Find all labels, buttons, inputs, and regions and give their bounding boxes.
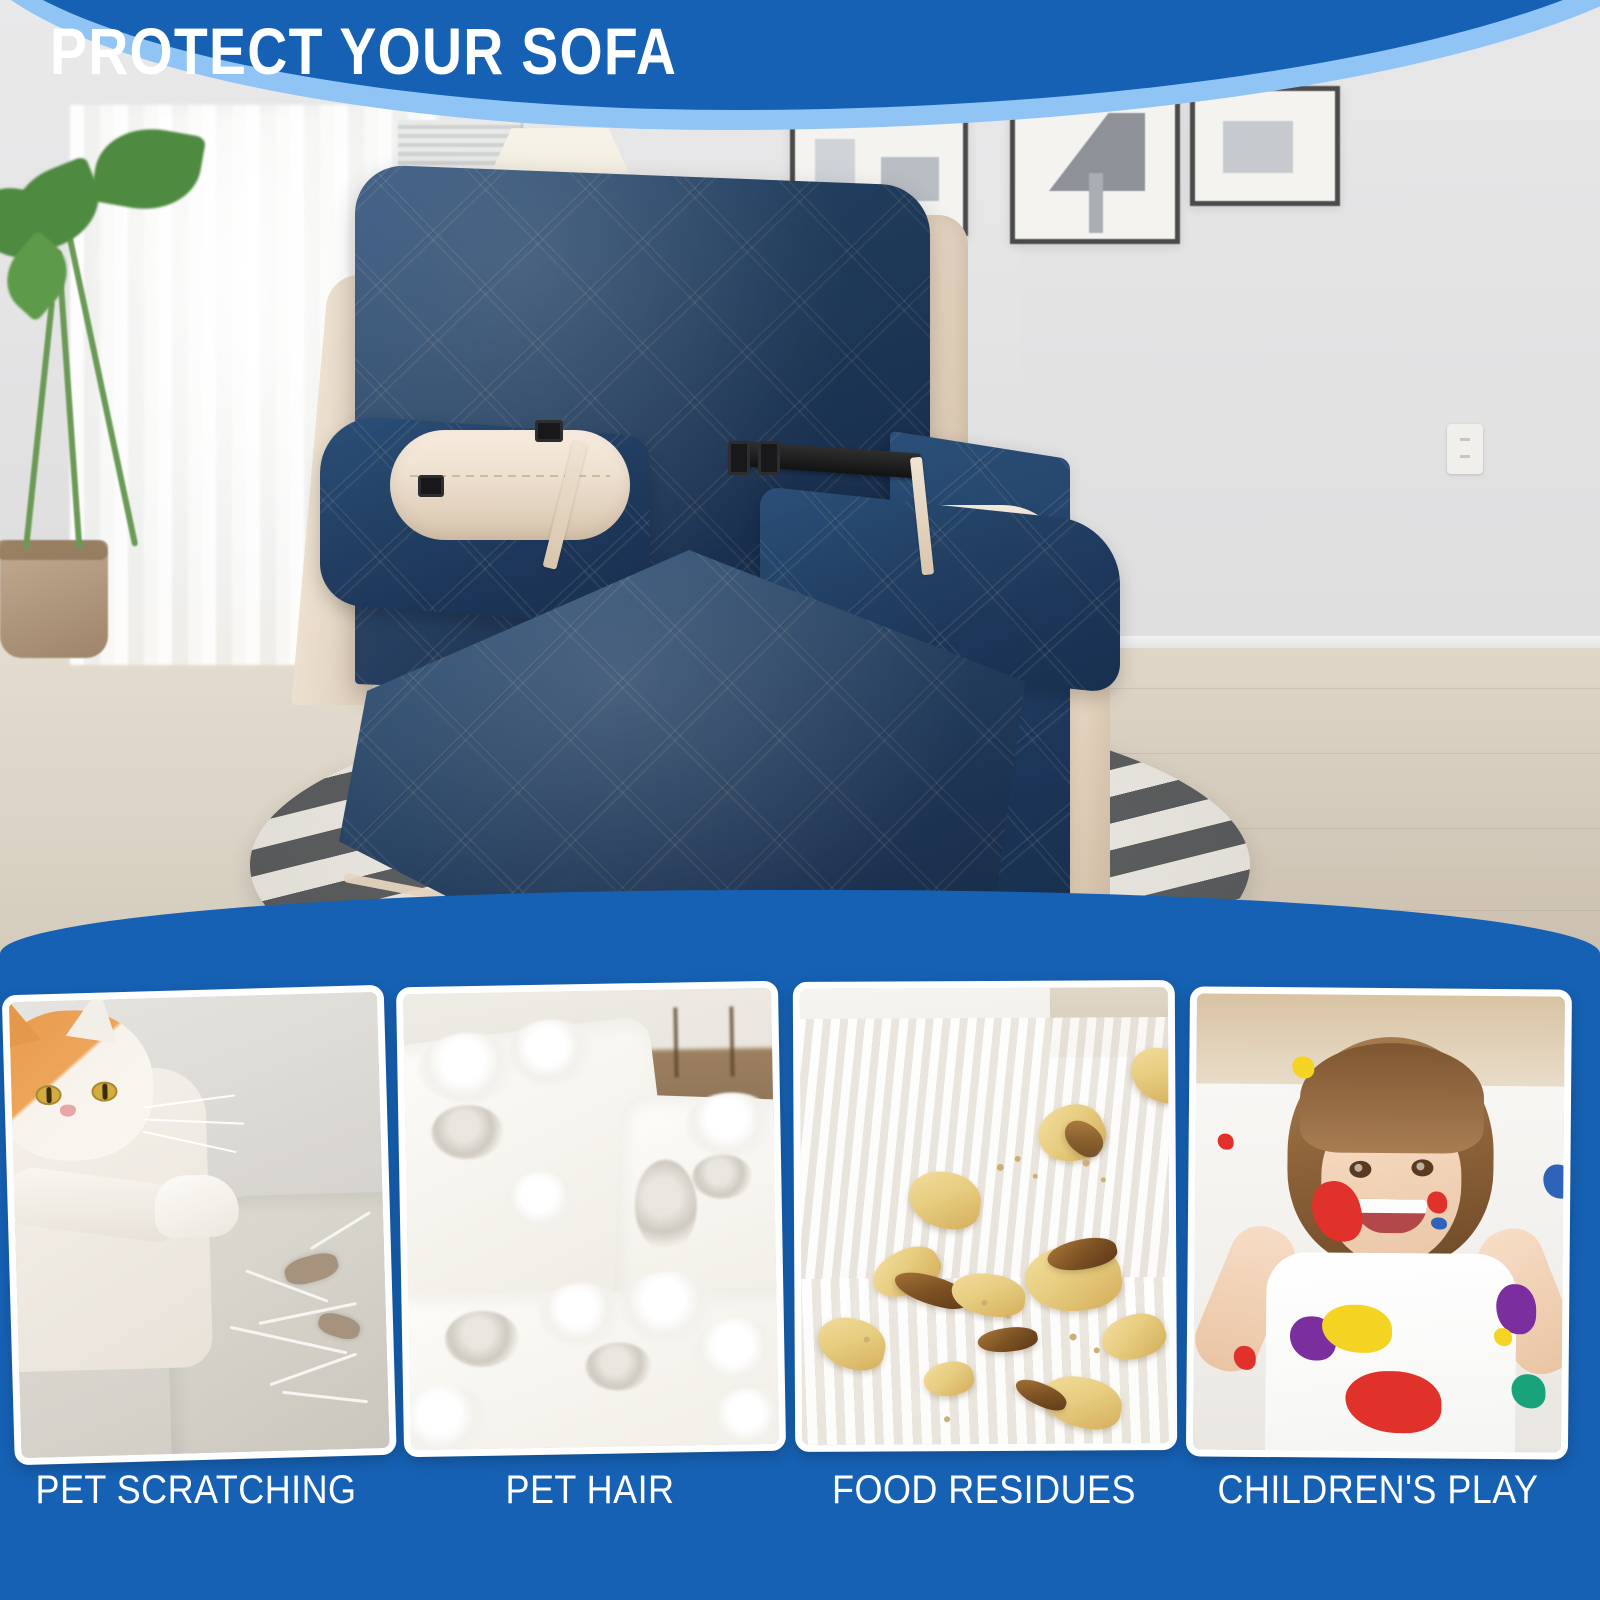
- feature-label-childrens-play: CHILDREN'S PLAY: [1202, 1468, 1555, 1513]
- recliner-with-slipcover: [330, 175, 1200, 975]
- feature-label-row: PET SCRATCHING PET HAIR FOOD RESIDUES CH…: [0, 1468, 1600, 1558]
- plant-pot: [0, 540, 108, 658]
- feature-card-childrens-play[interactable]: [1186, 986, 1572, 1459]
- framed-art-3: [1190, 86, 1340, 206]
- feature-strip: PET SCRATCHING PET HAIR FOOD RESIDUES CH…: [0, 890, 1600, 1600]
- buckle-left: [535, 420, 563, 442]
- product-infographic: PROTECT YOUR SOFA: [0, 0, 1600, 1600]
- hero-product-photo: [0, 0, 1600, 1005]
- buckle-right-2: [758, 441, 780, 475]
- buckle-right-1: [728, 441, 750, 475]
- feature-label-pet-hair: PET HAIR: [414, 1468, 767, 1513]
- feature-label-food-residues: FOOD RESIDUES: [808, 1468, 1161, 1513]
- cat-scratching-sofa-image: [9, 992, 390, 1458]
- buckle-backrest-left: [418, 475, 444, 497]
- feature-card-food-residues[interactable]: [793, 980, 1177, 1452]
- feature-thumbnail-row: [0, 982, 1600, 1452]
- feature-card-pet-scratching[interactable]: [2, 985, 397, 1465]
- pet-hair-on-sofa-image: [403, 988, 779, 1450]
- child-painting-image: [1193, 993, 1565, 1452]
- food-crumbs-on-sofa-image: [800, 987, 1170, 1445]
- feature-card-pet-hair[interactable]: [396, 981, 786, 1458]
- wall-outlet: [1447, 424, 1483, 474]
- feature-label-pet-scratching: PET SCRATCHING: [20, 1468, 373, 1513]
